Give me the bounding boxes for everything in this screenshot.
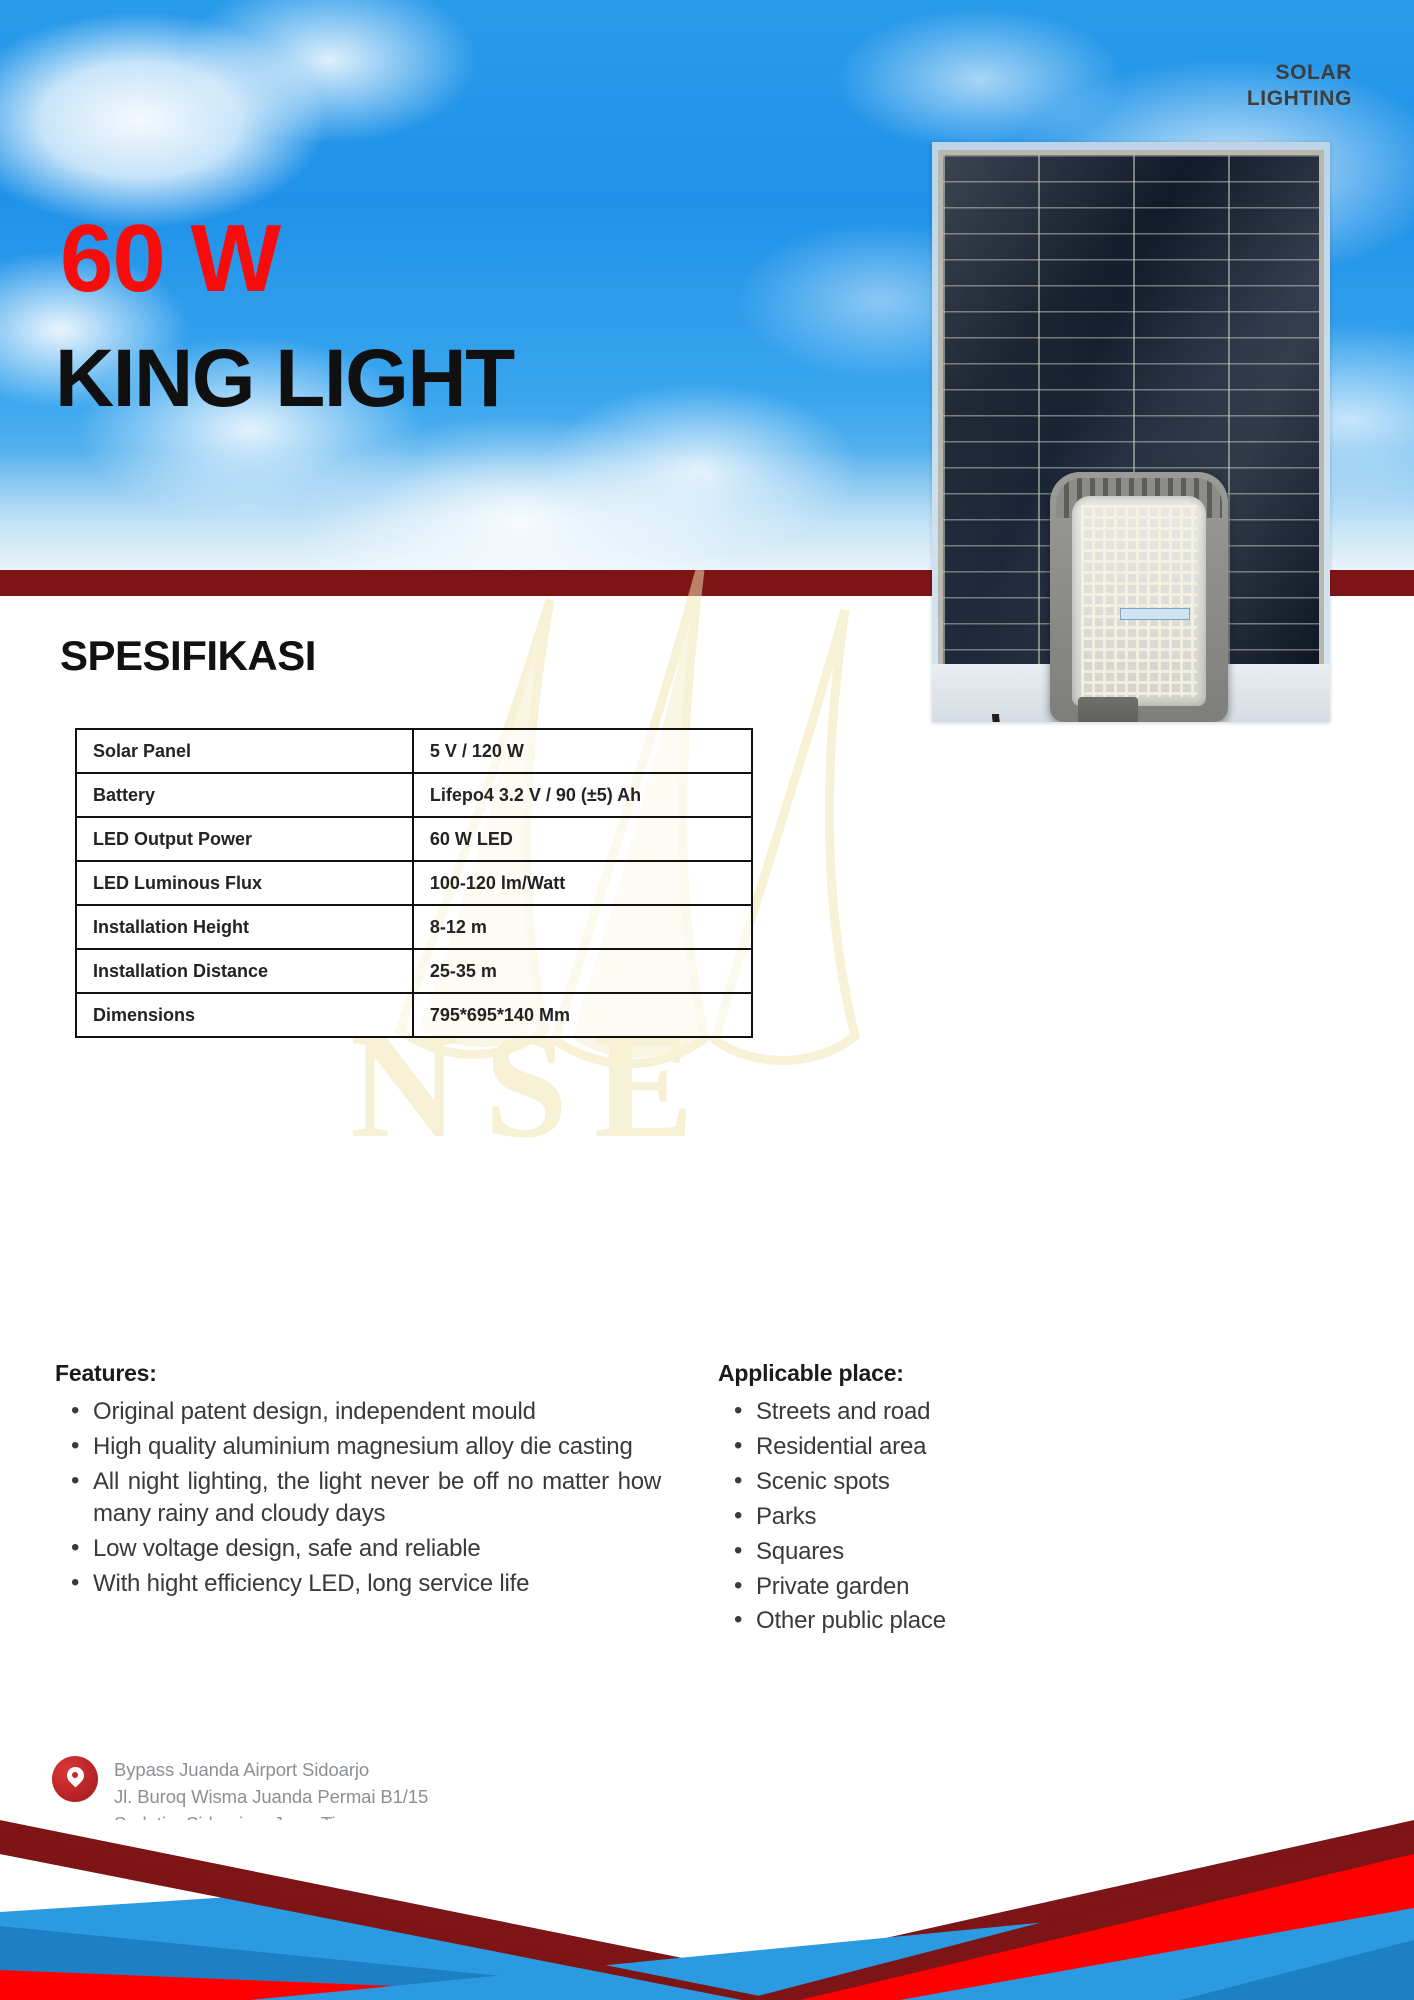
lamp-lens bbox=[1072, 496, 1206, 706]
features-title: Features: bbox=[55, 1360, 665, 1387]
list-item: Squares bbox=[718, 1536, 1138, 1568]
list-item: Private garden bbox=[718, 1571, 1138, 1603]
specification-table: Solar Panel 5 V / 120 W Battery Lifepo4 … bbox=[75, 728, 753, 1038]
spec-value: Lifepo4 3.2 V / 90 (±5) Ah bbox=[413, 773, 752, 817]
list-item: Streets and road bbox=[718, 1396, 1138, 1428]
applicable-place-section: Applicable place: Streets and road Resid… bbox=[718, 1360, 1138, 1640]
table-row: LED Output Power 60 W LED bbox=[76, 817, 752, 861]
footer-chevron-graphic bbox=[0, 1820, 1414, 2000]
table-row: Installation Height 8-12 m bbox=[76, 905, 752, 949]
spec-table-body: Solar Panel 5 V / 120 W Battery Lifepo4 … bbox=[76, 729, 752, 1037]
spec-label: Installation Distance bbox=[76, 949, 413, 993]
power-cable bbox=[992, 714, 1102, 722]
list-item: All night lighting, the light never be o… bbox=[55, 1466, 665, 1530]
list-item: Scenic spots bbox=[718, 1466, 1138, 1498]
spec-label: LED Luminous Flux bbox=[76, 861, 413, 905]
list-item: With hight efficiency LED, long service … bbox=[55, 1568, 665, 1600]
spec-value: 8-12 m bbox=[413, 905, 752, 949]
spec-label: Installation Height bbox=[76, 905, 413, 949]
features-list: Original patent design, independent moul… bbox=[55, 1396, 665, 1599]
pin-glyph bbox=[67, 1767, 84, 1791]
spec-value: 795*695*140 Mm bbox=[413, 993, 752, 1037]
product-title: KING LIGHT bbox=[55, 340, 514, 418]
list-item: Low voltage design, safe and reliable bbox=[55, 1533, 665, 1565]
led-array bbox=[1081, 505, 1197, 697]
table-row: Dimensions 795*695*140 Mm bbox=[76, 993, 752, 1037]
list-item: Original patent design, independent moul… bbox=[55, 1396, 665, 1428]
table-row: Battery Lifepo4 3.2 V / 90 (±5) Ah bbox=[76, 773, 752, 817]
applicable-place-list: Streets and road Residential area Scenic… bbox=[718, 1396, 1138, 1637]
wattage-title: 60 W bbox=[60, 215, 280, 303]
spec-heading: SPESIFIKASI bbox=[60, 632, 316, 680]
table-row: LED Luminous Flux 100-120 lm/Watt bbox=[76, 861, 752, 905]
led-luminaire bbox=[1050, 472, 1228, 722]
table-row: Solar Panel 5 V / 120 W bbox=[76, 729, 752, 773]
spec-label: LED Output Power bbox=[76, 817, 413, 861]
spec-label: Solar Panel bbox=[76, 729, 413, 773]
spec-value: 25-35 m bbox=[413, 949, 752, 993]
features-section: Features: Original patent design, indepe… bbox=[55, 1360, 665, 1602]
spec-label: Dimensions bbox=[76, 993, 413, 1037]
brand-tagline: SOLAR LIGHTING bbox=[1247, 60, 1352, 113]
list-item: Residential area bbox=[718, 1431, 1138, 1463]
table-row: Installation Distance 25-35 m bbox=[76, 949, 752, 993]
list-item: High quality aluminium magnesium alloy d… bbox=[55, 1431, 665, 1463]
lamp-brand-label bbox=[1120, 608, 1190, 620]
spec-value: 5 V / 120 W bbox=[413, 729, 752, 773]
spec-value: 100-120 lm/Watt bbox=[413, 861, 752, 905]
spec-label: Battery bbox=[76, 773, 413, 817]
applicable-place-title: Applicable place: bbox=[718, 1360, 1138, 1387]
location-pin-icon bbox=[52, 1756, 98, 1802]
product-photo bbox=[932, 142, 1330, 722]
spec-value: 60 W LED bbox=[413, 817, 752, 861]
datasheet-page: SOLAR LIGHTING 60 W KING LIGHT bbox=[0, 0, 1414, 2000]
list-item: Other public place bbox=[718, 1605, 1138, 1637]
list-item: Parks bbox=[718, 1501, 1138, 1533]
